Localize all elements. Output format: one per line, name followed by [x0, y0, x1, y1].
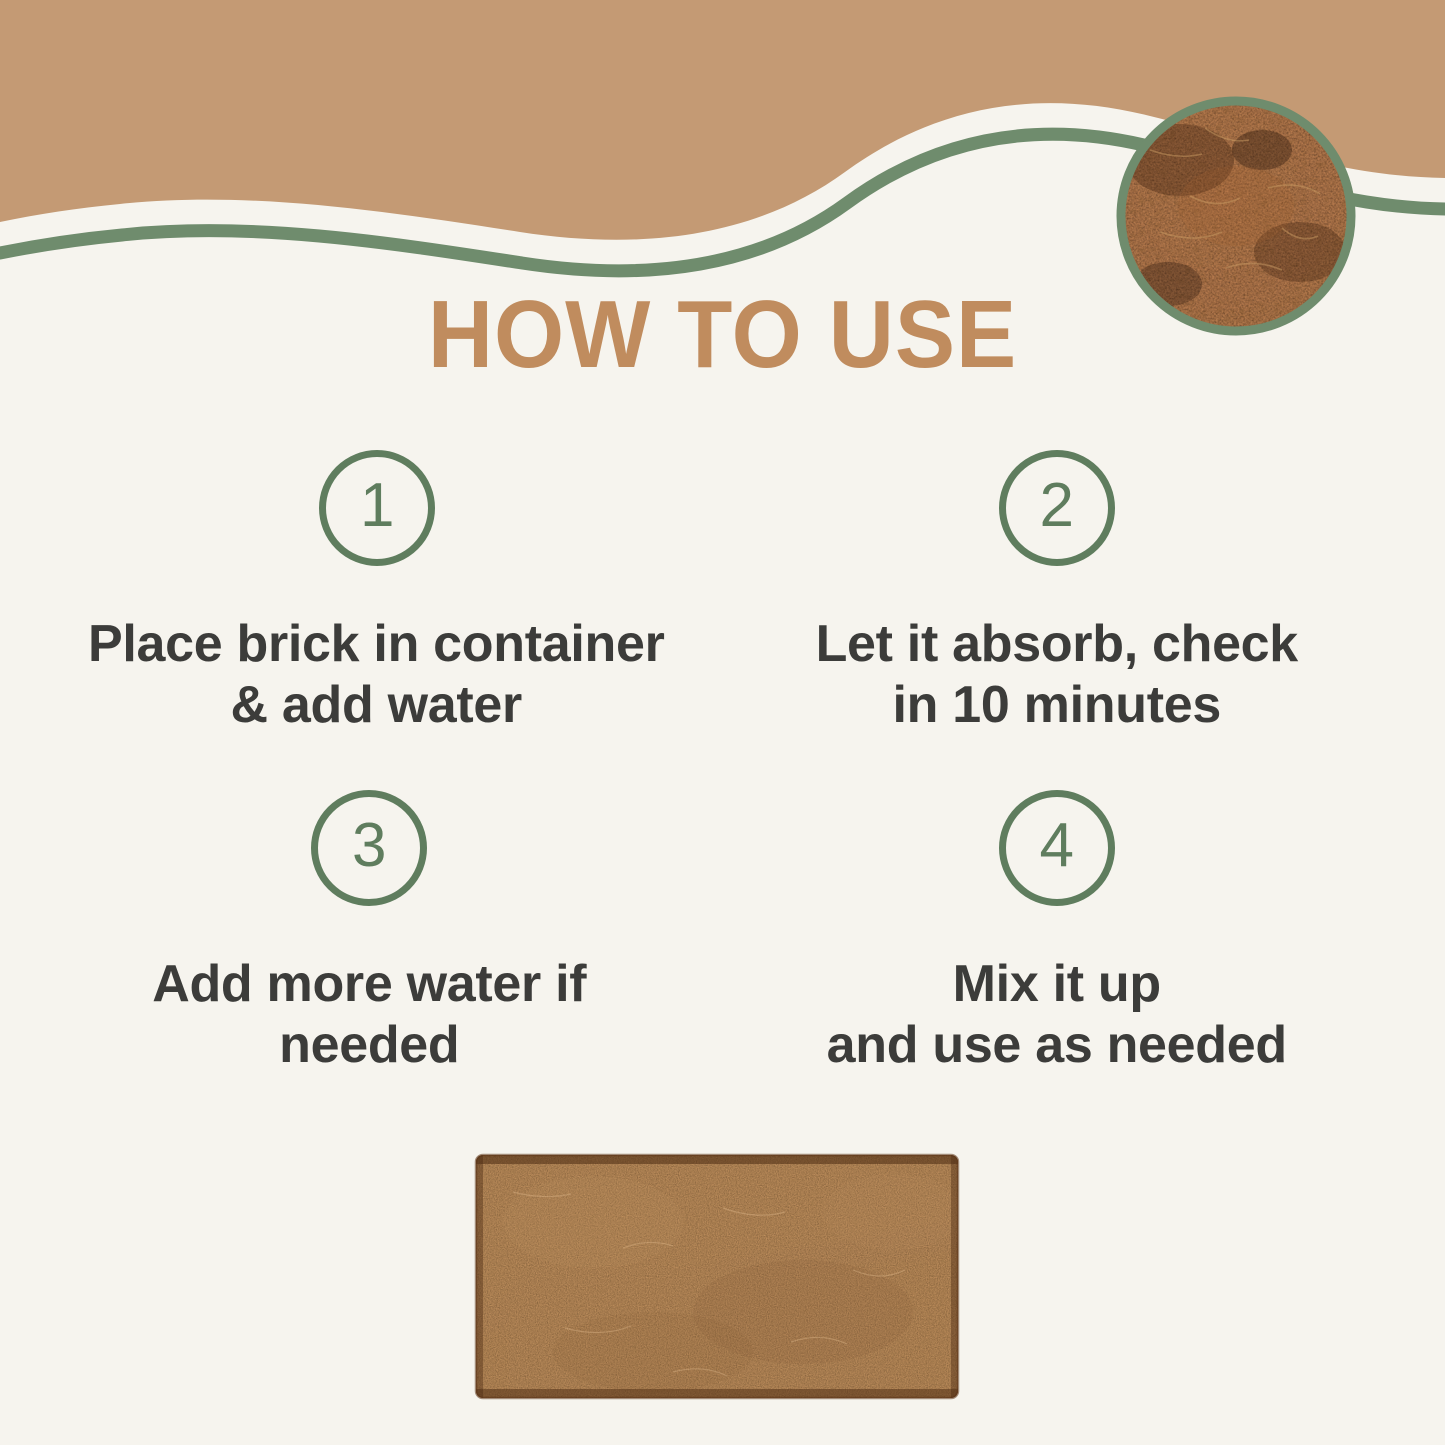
step-label-2: Let it absorb, check in 10 minutes: [816, 614, 1298, 737]
step-item-3: 3 Add more water if needed: [30, 790, 723, 1130]
step-label-1: Place brick in container & add water: [88, 614, 665, 737]
step-label-3: Add more water if needed: [152, 954, 586, 1077]
step-number-badge-2: 2: [999, 450, 1115, 566]
step-item-4: 4 Mix it up and use as needed: [723, 790, 1416, 1130]
step-item-1: 1 Place brick in container & add water: [30, 450, 723, 790]
infographic-page: HOW TO USE 1 Place brick in container & …: [0, 0, 1445, 1445]
step-number-badge-1: 1: [319, 450, 435, 566]
page-title: HOW TO USE: [43, 285, 1401, 386]
step-number-badge-3: 3: [311, 790, 427, 906]
step-number-badge-4: 4: [999, 790, 1115, 906]
steps-grid: 1 Place brick in container & add water 2…: [30, 450, 1415, 1130]
step-item-2: 2 Let it absorb, check in 10 minutes: [723, 450, 1416, 790]
coir-brick-image: [473, 1152, 961, 1401]
step-label-4: Mix it up and use as needed: [827, 954, 1287, 1077]
